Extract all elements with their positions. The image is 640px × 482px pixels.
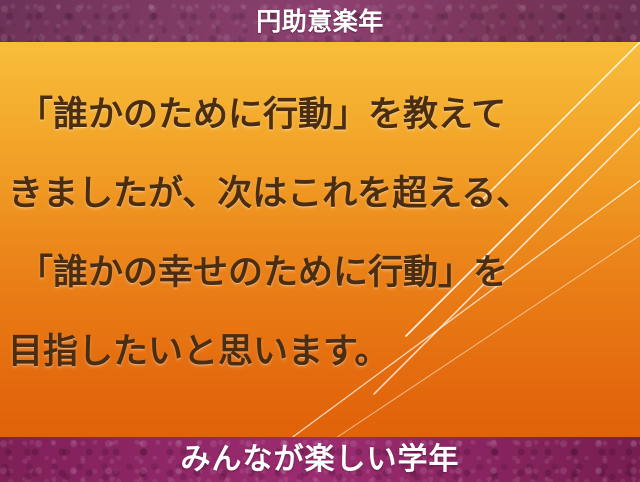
- body-text-line-1: 「誰かのために行動」を教えて: [8, 76, 632, 155]
- presentation-slide: 「誰かのために行動」を教えて きましたが、次はこれを超える、 「誰かの幸せのため…: [0, 0, 640, 482]
- body-text-line-3: 「誰かの幸せのために行動」を: [8, 234, 632, 313]
- body-text-line-2: きましたが、次はこれを超える、: [8, 155, 632, 234]
- slide-footer-title: みんなが楽しい学年: [181, 445, 460, 475]
- slide-body-text: 「誰かのために行動」を教えて きましたが、次はこれを超える、 「誰かの幸せのため…: [0, 42, 640, 437]
- slide-footer-bar: みんなが楽しい学年: [0, 437, 640, 482]
- slide-title: 円助意楽年: [256, 9, 384, 34]
- slide-header-bar: 円助意楽年: [0, 0, 640, 42]
- body-text-line-4: 目指したいと思います。: [8, 313, 632, 392]
